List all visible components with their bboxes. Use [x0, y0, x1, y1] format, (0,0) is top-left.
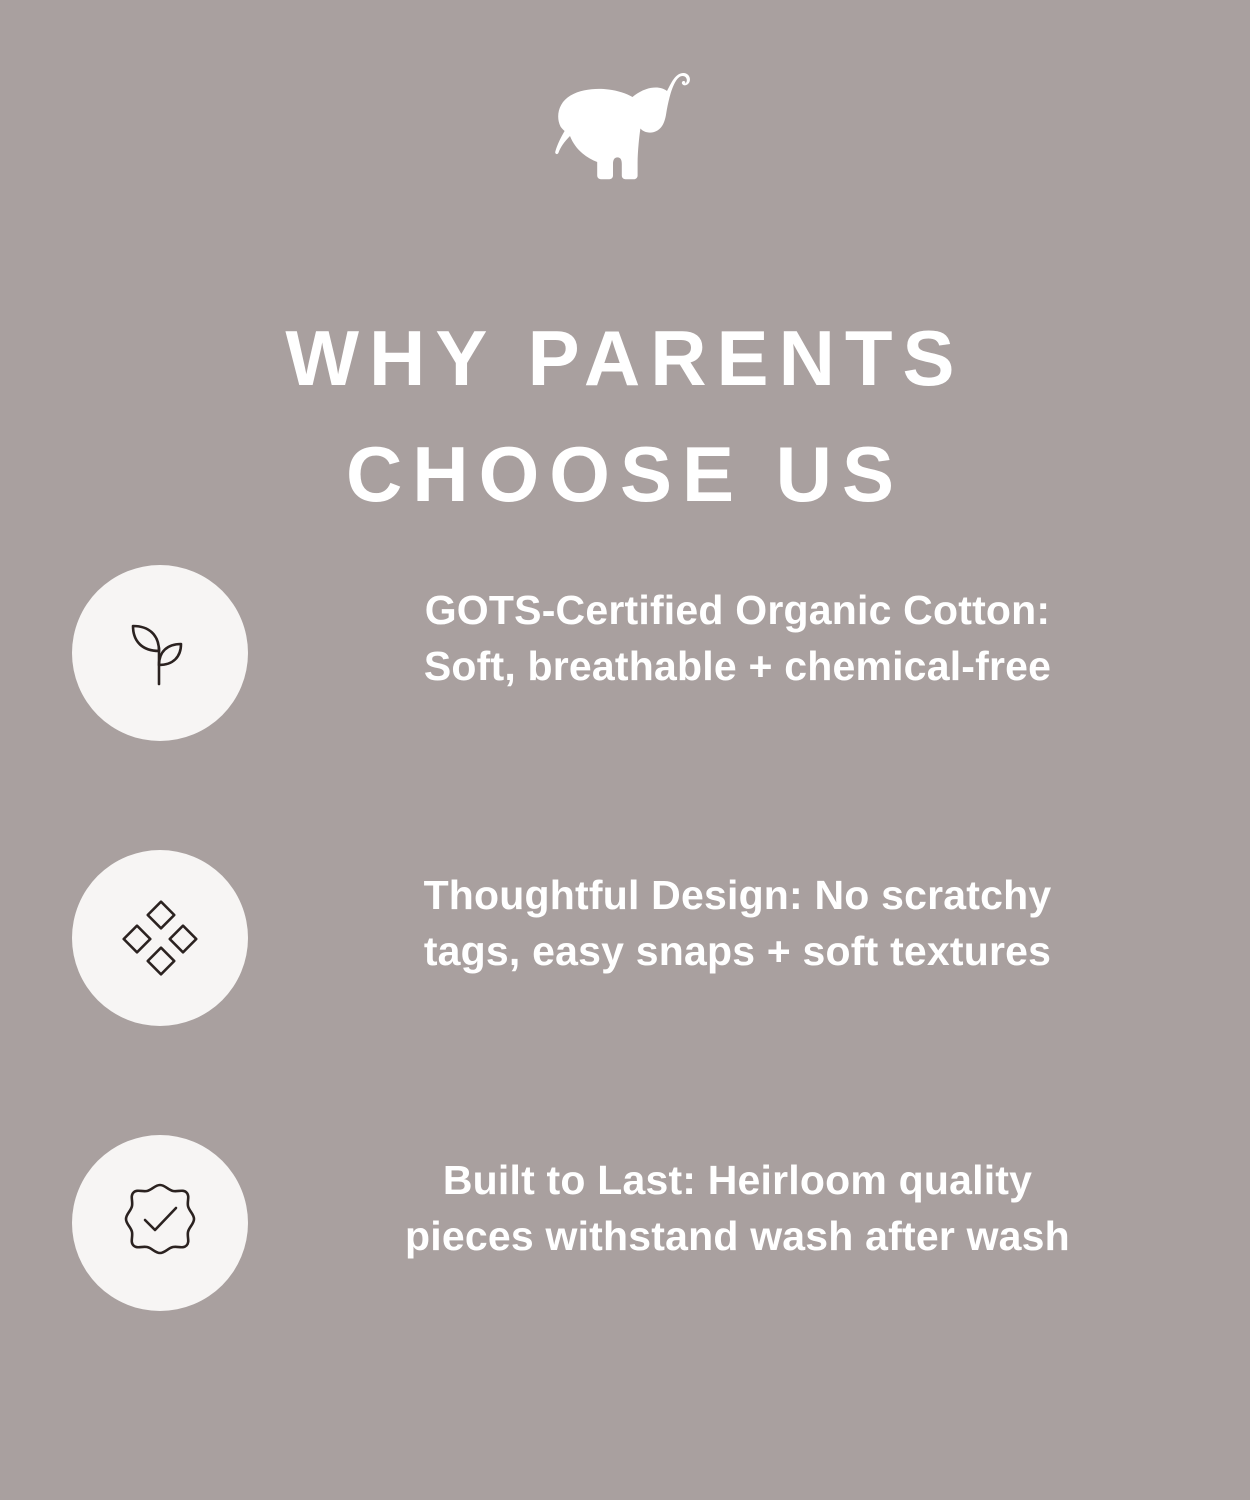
feature-item-organic-cotton: GOTS-Certified Organic Cotton: Soft, bre… [0, 560, 1250, 845]
feature-text-line-2: pieces withstand wash after wash [300, 1208, 1175, 1264]
brand-logo [0, 72, 1250, 182]
feature-icon-badge [72, 850, 248, 1026]
feature-text-line-2: tags, easy snaps + soft textures [300, 923, 1175, 979]
page-title: WHY PARENTS CHOOSE US [0, 300, 1250, 532]
page-title-line-1: WHY PARENTS [0, 300, 1250, 416]
feature-text-thoughtful-design: Thoughtful Design: No scratchy tags, eas… [300, 867, 1175, 979]
sprout-icon [117, 610, 203, 696]
feature-item-thoughtful-design: Thoughtful Design: No scratchy tags, eas… [0, 845, 1250, 1130]
feature-text-organic-cotton: GOTS-Certified Organic Cotton: Soft, bre… [300, 582, 1175, 694]
feature-text-line-2: Soft, breathable + chemical-free [300, 638, 1175, 694]
feature-text-line-1: Built to Last: Heirloom quality [300, 1152, 1175, 1208]
why-parents-choose-us-panel: WHY PARENTS CHOOSE US GOTS-Certifie [0, 0, 1250, 1500]
feature-icon-badge [72, 1135, 248, 1311]
feature-list: GOTS-Certified Organic Cotton: Soft, bre… [0, 560, 1250, 1415]
elephant-logo [540, 72, 710, 182]
feature-text-line-1: GOTS-Certified Organic Cotton: [300, 582, 1175, 638]
feature-item-built-to-last: Built to Last: Heirloom quality pieces w… [0, 1130, 1250, 1415]
feature-text-line-1: Thoughtful Design: No scratchy [300, 867, 1175, 923]
feature-icon-badge [72, 565, 248, 741]
feature-text-built-to-last: Built to Last: Heirloom quality pieces w… [300, 1152, 1175, 1264]
page-title-line-2: CHOOSE US [0, 416, 1250, 532]
badge-check-icon [114, 1177, 206, 1269]
four-diamonds-icon [117, 895, 203, 981]
